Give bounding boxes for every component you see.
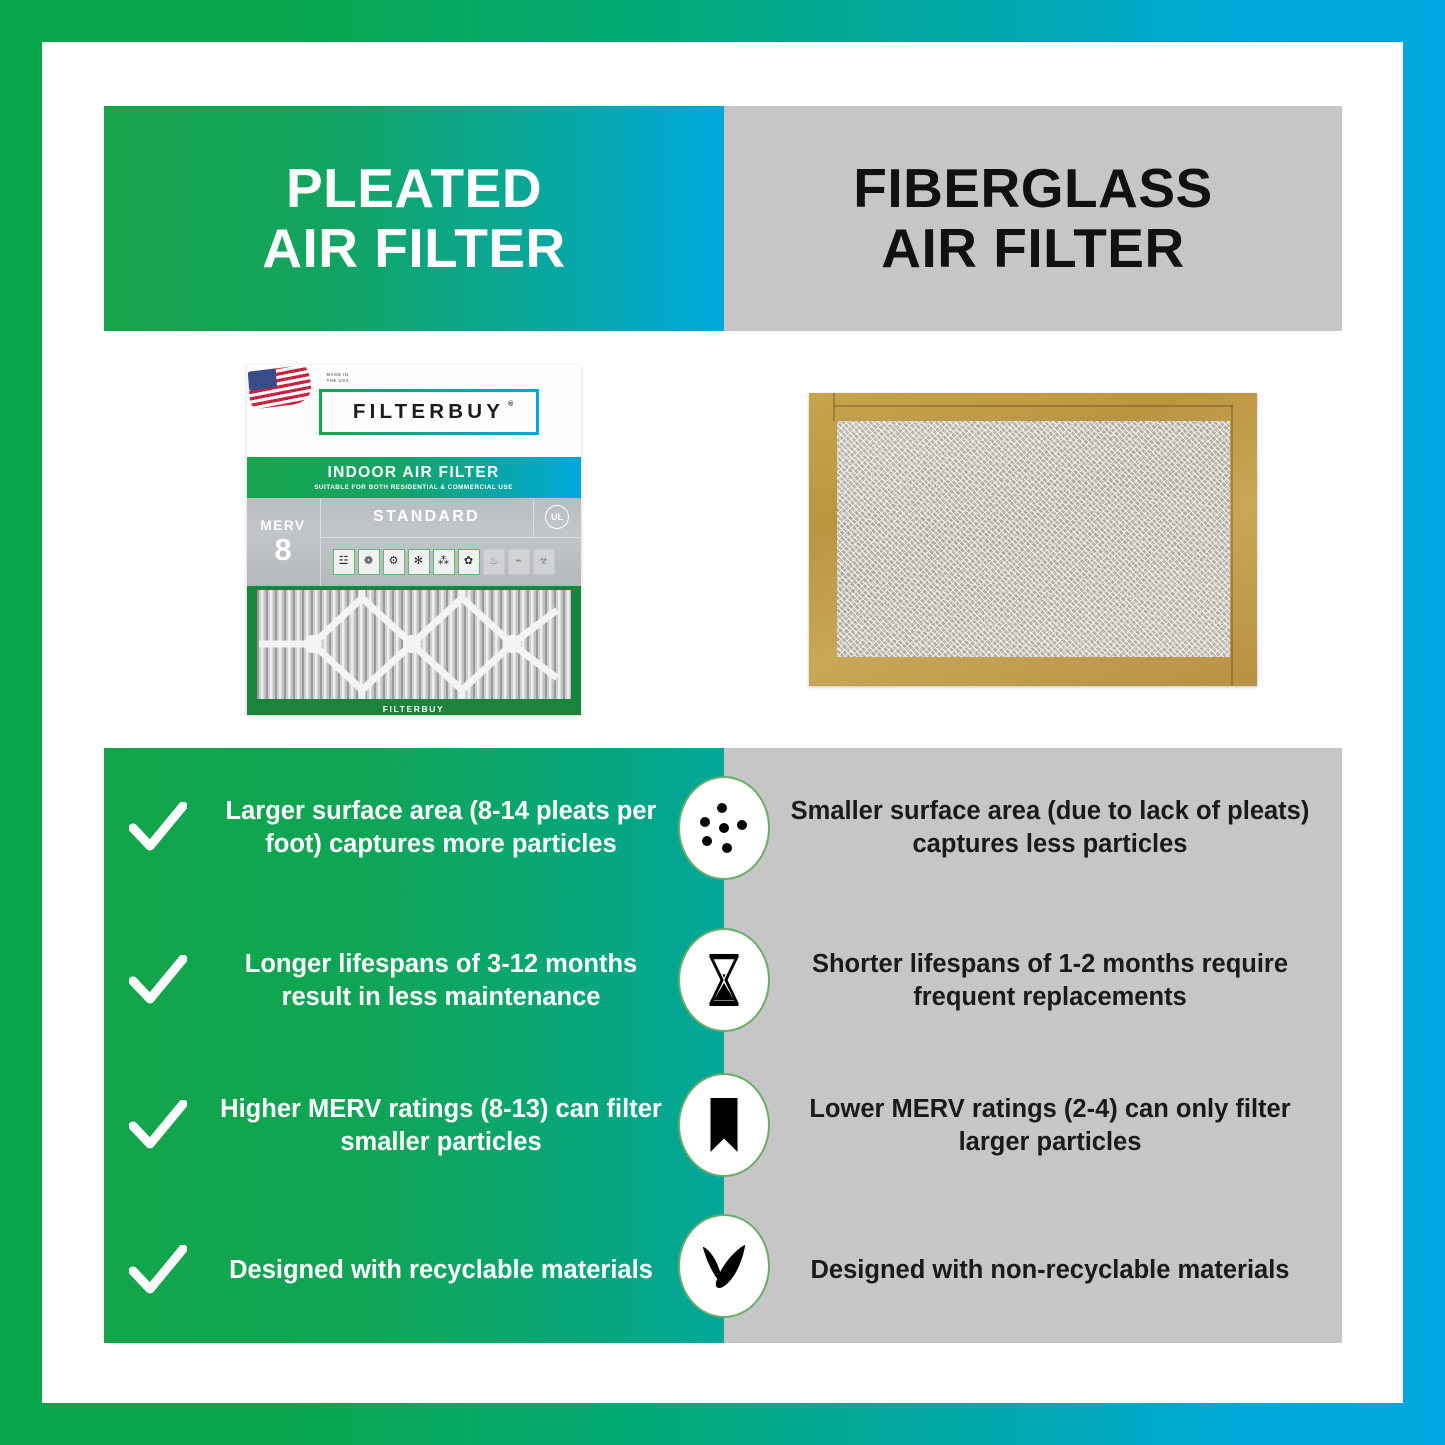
support-mesh-icon	[257, 590, 571, 699]
bacteria-icon: ⌁	[508, 549, 530, 575]
row-3-left-text: Higher MERV ratings (8-13) can filter sm…	[212, 1093, 724, 1159]
pollen-icon: ⚙	[383, 549, 405, 575]
banner-line-2: SUITABLE FOR BOTH RESIDENTIAL & COMMERCI…	[314, 484, 513, 491]
smoke-icon: ♨	[483, 549, 505, 575]
checkmark-icon	[104, 802, 212, 854]
row-4-right-text: Designed with non-recyclable materials	[724, 1254, 1342, 1287]
fiberglass-media	[837, 421, 1230, 657]
merv-value: 8	[274, 534, 291, 565]
frame-seam-left	[833, 393, 835, 421]
fiberglass-product-cell	[723, 331, 1342, 748]
brand-name-text: FILTERBUY	[353, 400, 504, 423]
header-pleated-title: PLEATED AIR FILTER	[262, 159, 565, 278]
package-top: MADE IN THE USA FILTERBUY ®	[247, 365, 581, 457]
banner-line-1: INDOOR AIR FILTER	[328, 464, 500, 482]
checkmark-icon	[104, 1100, 212, 1152]
registered-mark: ®	[508, 401, 513, 408]
package-spec-area: MERV 8 STANDARD UL ☳	[247, 498, 581, 586]
capture-icon-row: ☳ ❁ ⚙ ✻ ⁂ ✿ ♨ ⌁ ☣	[321, 538, 581, 586]
row-1-right-text: Smaller surface area (due to lack of ple…	[724, 795, 1342, 861]
fiber-texture	[837, 421, 1230, 657]
row-4-right: Designed with non-recyclable materials	[724, 1198, 1342, 1343]
row-2-right: Shorter lifespans of 1-2 months require …	[724, 908, 1342, 1053]
made-in-usa-label: MADE IN THE USA	[327, 372, 350, 385]
leaf-icon	[678, 1214, 770, 1318]
merv-label: MERV	[260, 518, 305, 533]
row-2-left-text: Longer lifespans of 3-12 months result i…	[212, 948, 724, 1014]
fiberglass-filter-image	[809, 393, 1257, 686]
brand-name: FILTERBUY ®	[353, 400, 504, 424]
lint-icon: ⁂	[433, 549, 455, 575]
frame-seam-top	[833, 405, 1233, 407]
checkmark-icon	[104, 1245, 212, 1297]
checkmark-icon	[104, 955, 212, 1007]
comparison-rows: Larger surface area (8-14 pleats per foo…	[104, 748, 1342, 1343]
product-images-section: MADE IN THE USA FILTERBUY ® INDOOR AIR F…	[104, 331, 1342, 748]
infographic-canvas: PLEATED AIR FILTER FIBERGLASS AIR FILTER…	[42, 42, 1403, 1403]
row-1-right: Smaller surface area (due to lack of ple…	[724, 748, 1342, 908]
comparison-panel: Larger surface area (8-14 pleats per foo…	[104, 748, 1342, 1343]
merv-badge: MERV 8	[247, 498, 321, 586]
row-3-right: Lower MERV ratings (2-4) can only filter…	[724, 1053, 1342, 1198]
pleated-filter-package: MADE IN THE USA FILTERBUY ® INDOOR AIR F…	[247, 365, 581, 715]
package-banner: INDOOR AIR FILTER SUITABLE FOR BOTH RESI…	[247, 457, 581, 498]
hourglass-icon	[678, 928, 770, 1032]
header-pleated: PLEATED AIR FILTER	[104, 106, 724, 331]
pleated-product-cell: MADE IN THE USA FILTERBUY ® INDOOR AIR F…	[104, 331, 723, 748]
pet-dander-icon: ✿	[458, 549, 480, 575]
infographic-frame: PLEATED AIR FILTER FIBERGLASS AIR FILTER…	[0, 0, 1445, 1445]
particle-dots	[695, 799, 753, 857]
row-1-left-text: Larger surface area (8-14 pleats per foo…	[212, 795, 724, 861]
table-row: Longer lifespans of 3-12 months result i…	[104, 908, 1342, 1053]
virus-icon: ☣	[533, 549, 555, 575]
mold-icon: ✻	[408, 549, 430, 575]
dust-mite-icon: ❁	[358, 549, 380, 575]
header-fiberglass-title: FIBERGLASS AIR FILTER	[853, 159, 1212, 278]
table-row: Higher MERV ratings (8-13) can filter sm…	[104, 1053, 1342, 1198]
row-2-right-text: Shorter lifespans of 1-2 months require …	[724, 948, 1342, 1014]
usa-flag-icon	[247, 365, 311, 410]
pleated-media-area: FILTERBUY	[247, 586, 581, 715]
grade-row: STANDARD UL	[321, 498, 581, 538]
header-fiberglass: FIBERGLASS AIR FILTER	[724, 106, 1342, 331]
row-2-left: Longer lifespans of 3-12 months result i…	[104, 908, 724, 1053]
row-3-left: Higher MERV ratings (8-13) can filter sm…	[104, 1053, 724, 1198]
row-4-left-text: Designed with recyclable materials	[212, 1254, 724, 1287]
row-1-left: Larger surface area (8-14 pleats per foo…	[104, 748, 724, 908]
bookmark-ribbon-icon	[678, 1073, 770, 1177]
certification-box: UL	[533, 498, 581, 537]
grade-label: STANDARD	[321, 508, 533, 526]
table-row: Designed with recyclable materials Desig…	[104, 1198, 1342, 1343]
frame-seam-right	[1231, 405, 1233, 686]
dust-lint-icon: ☳	[333, 549, 355, 575]
filter-brand-label: FILTERBUY	[247, 704, 581, 714]
particles-icon	[678, 776, 770, 880]
brand-logo-box: FILTERBUY ®	[319, 389, 539, 435]
row-3-right-text: Lower MERV ratings (2-4) can only filter…	[724, 1093, 1342, 1159]
row-4-left: Designed with recyclable materials	[104, 1198, 724, 1343]
table-row: Larger surface area (8-14 pleats per foo…	[104, 748, 1342, 908]
package-spec-right: STANDARD UL ☳ ❁ ⚙ ✻ ⁂	[321, 498, 581, 586]
ul-certification-icon: UL	[545, 505, 569, 529]
header-band: PLEATED AIR FILTER FIBERGLASS AIR FILTER	[104, 106, 1342, 331]
